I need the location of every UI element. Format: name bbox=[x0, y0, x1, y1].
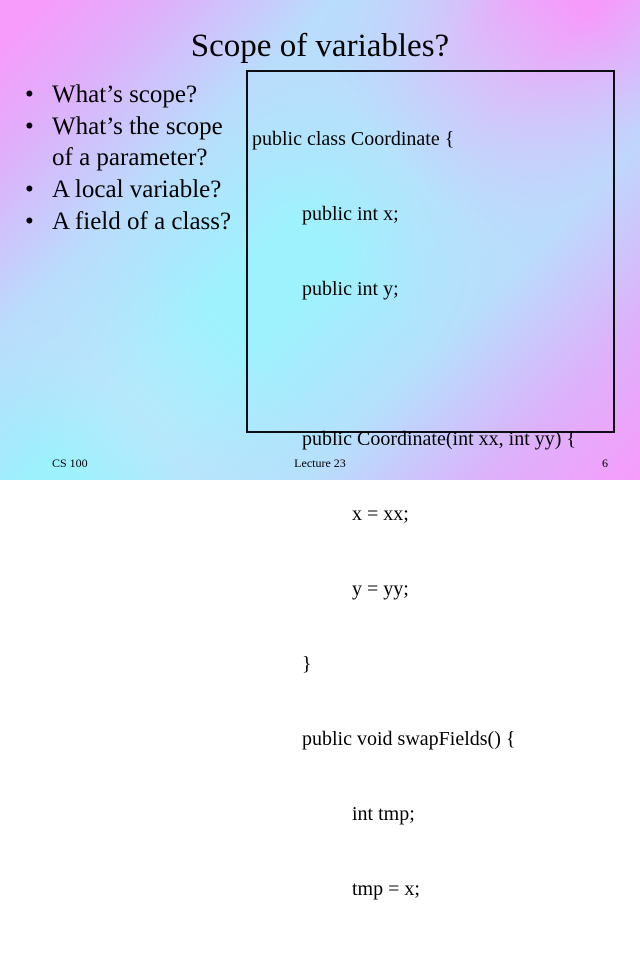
list-item-label: A local variable? bbox=[52, 176, 221, 203]
bullet-icon: • bbox=[25, 174, 34, 205]
slide-canvas: Scope of variables? • What’s scope? • Wh… bbox=[0, 0, 640, 480]
code-line: } bbox=[252, 652, 613, 677]
code-line: int tmp; bbox=[252, 802, 613, 827]
slide-footer: CS 100 Lecture 23 6 bbox=[0, 446, 640, 480]
list-item-label: A field of a class? bbox=[52, 208, 231, 235]
footer-page-number: 6 bbox=[602, 446, 608, 480]
code-line: x = xx; bbox=[252, 502, 613, 527]
code-line: public class Coordinate { bbox=[252, 127, 613, 152]
bullet-icon: • bbox=[25, 206, 34, 237]
code-line-blank bbox=[252, 352, 613, 377]
code-line: public void swapFields() { bbox=[252, 727, 613, 752]
code-block: public class Coordinate { public int x; … bbox=[246, 70, 615, 433]
list-item: • A field of a class? bbox=[14, 206, 242, 237]
footer-lecture: Lecture 23 bbox=[0, 446, 640, 480]
list-item-label: What’s the scope of a parameter? bbox=[52, 113, 223, 171]
code-line: x = y; bbox=[252, 952, 613, 960]
bullet-icon: • bbox=[25, 79, 34, 110]
code-line: y = yy; bbox=[252, 577, 613, 602]
code-lines: public class Coordinate { public int x; … bbox=[248, 72, 613, 960]
list-item-label: What’s scope? bbox=[52, 81, 197, 108]
bullet-list: • What’s scope? • What’s the scope of a … bbox=[14, 79, 242, 238]
list-item: • What’s the scope of a parameter? bbox=[14, 111, 242, 173]
code-line: tmp = x; bbox=[252, 877, 613, 902]
list-item: • What’s scope? bbox=[14, 79, 242, 110]
page-title: Scope of variables? bbox=[0, 26, 640, 66]
code-line: public int x; bbox=[252, 202, 613, 227]
bullet-icon: • bbox=[25, 111, 34, 142]
code-line: public int y; bbox=[252, 277, 613, 302]
list-item: • A local variable? bbox=[14, 174, 242, 205]
